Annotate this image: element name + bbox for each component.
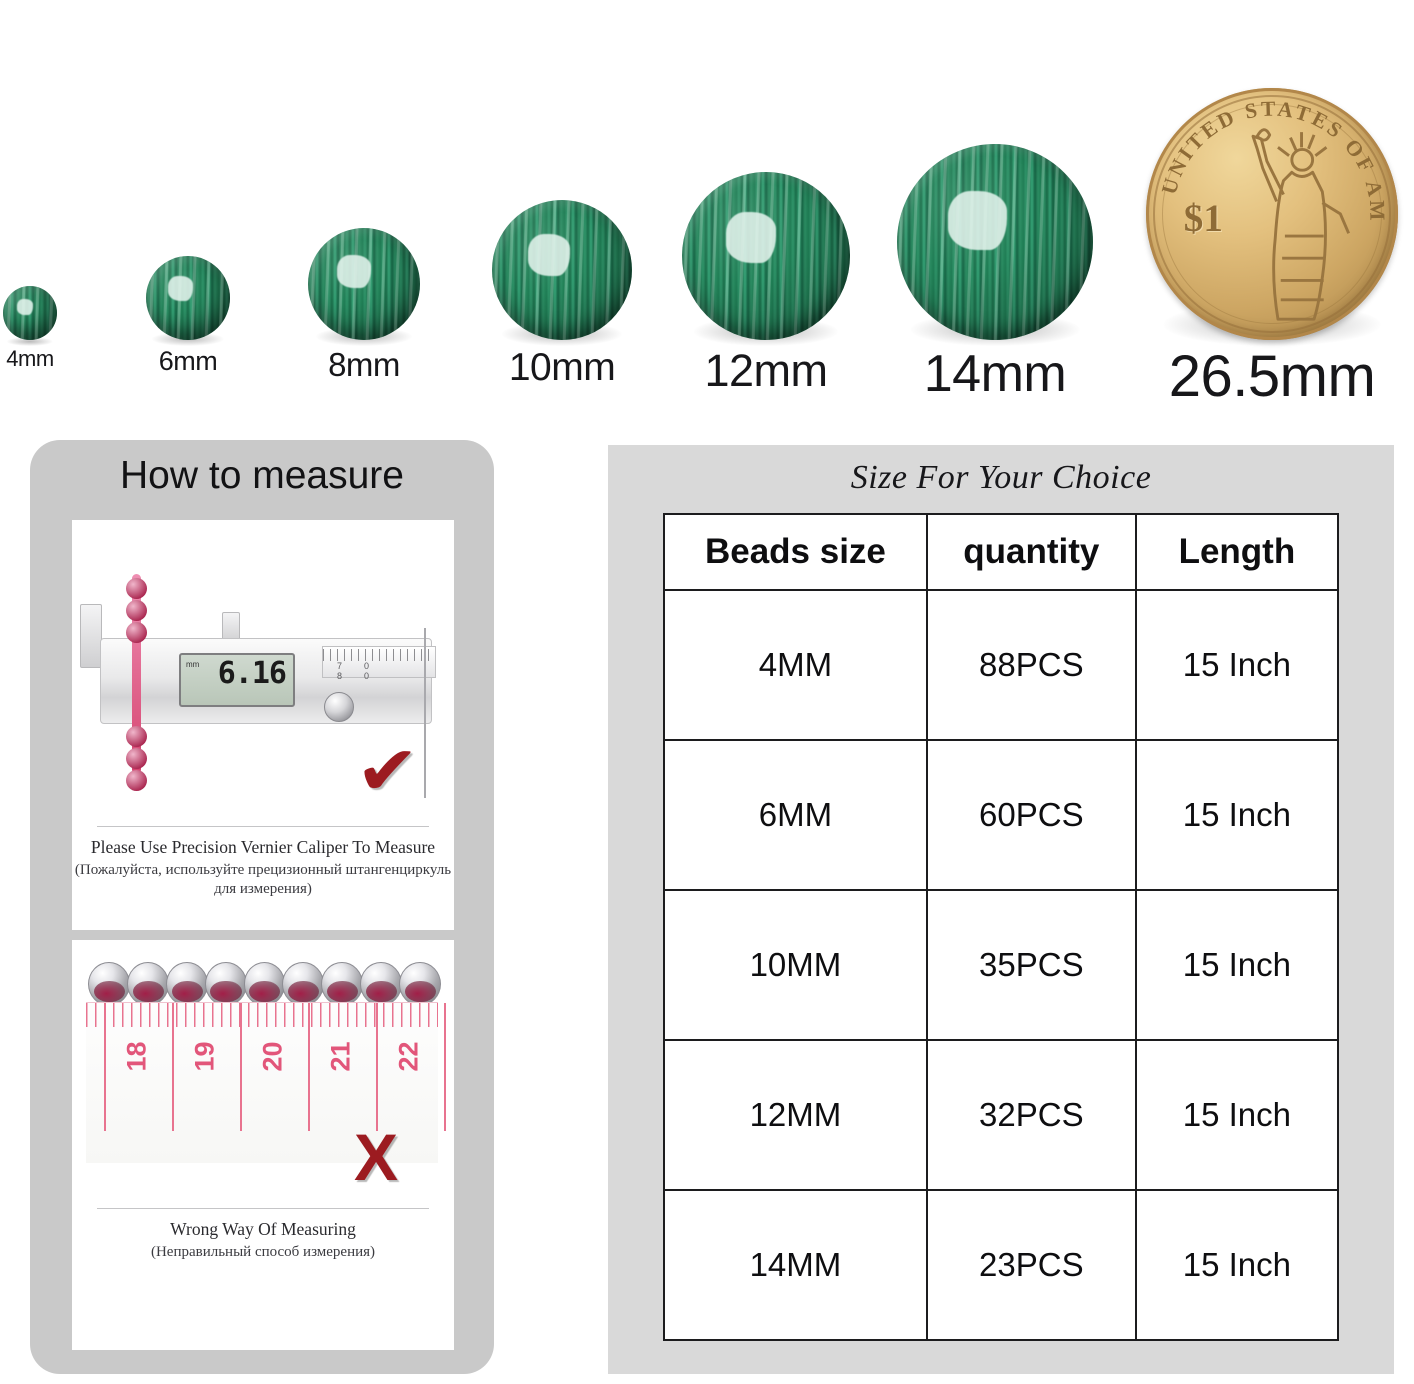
table-header-cell: Length bbox=[1136, 514, 1338, 590]
wrong-method-caption: Wrong Way Of Measuring (Неправильный спо… bbox=[72, 1208, 454, 1262]
bead-highlight bbox=[948, 191, 1007, 250]
steel-bead bbox=[399, 962, 441, 1006]
caption-divider bbox=[97, 826, 429, 827]
table-row: 12MM32PCS15 Inch bbox=[664, 1040, 1338, 1190]
steel-bead bbox=[282, 962, 324, 1006]
table-cell: 10MM bbox=[664, 890, 927, 1040]
measured-bead bbox=[324, 692, 354, 722]
statue-of-liberty-icon bbox=[1234, 103, 1380, 325]
bead-sphere bbox=[308, 228, 420, 340]
table-cell: 88PCS bbox=[927, 590, 1136, 740]
strand-bead bbox=[126, 748, 147, 769]
malachite-bead bbox=[897, 144, 1093, 340]
table-row: 6MM60PCS15 Inch bbox=[664, 740, 1338, 890]
check-icon: ✔ bbox=[356, 738, 420, 806]
bead-highlight bbox=[168, 276, 193, 301]
wrong-method-card: 1819202122 X Wrong Way Of Measuring (Неп… bbox=[72, 940, 454, 1350]
table-cell: 15 Inch bbox=[1136, 590, 1338, 740]
size-label: 10mm bbox=[509, 348, 615, 387]
tape-number: 18 bbox=[122, 1041, 153, 1071]
strand-bead bbox=[126, 726, 147, 747]
how-to-measure-panel: How to measure mm 6.16 bbox=[30, 440, 494, 1374]
caliper-scale-rail: 70 80 bbox=[322, 646, 436, 678]
tape-major-mark bbox=[444, 1003, 446, 1131]
malachite-bead bbox=[3, 286, 57, 340]
size-label: 6mm bbox=[159, 348, 218, 375]
tape-major-mark bbox=[104, 1003, 106, 1131]
measuring-tape-photo: 1819202122 X bbox=[72, 940, 454, 1200]
table-cell: 15 Inch bbox=[1136, 1190, 1338, 1340]
steel-bead bbox=[166, 962, 208, 1006]
table-cell: 32PCS bbox=[927, 1040, 1136, 1190]
table-cell: 15 Inch bbox=[1136, 890, 1338, 1040]
bead-highlight bbox=[337, 255, 371, 289]
caliper-unit-label: mm bbox=[186, 660, 199, 669]
x-icon: X bbox=[354, 1124, 398, 1190]
table-cell: 15 Inch bbox=[1136, 740, 1338, 890]
table-header-row: Beads sizequantityLength bbox=[664, 514, 1338, 590]
steel-bead bbox=[127, 962, 169, 1006]
caption-divider bbox=[97, 1208, 429, 1209]
size-label: 14mm bbox=[924, 348, 1066, 400]
coin-denomination-label: $1 bbox=[1184, 196, 1223, 241]
how-to-measure-title: How to measure bbox=[30, 454, 494, 498]
size-label: 12mm bbox=[704, 348, 827, 393]
bead-sphere bbox=[492, 200, 632, 340]
wrong-caption-ru: (Неправильный способ измерения) bbox=[72, 1243, 454, 1263]
correct-caption-en: Please Use Precision Vernier Caliper To … bbox=[72, 837, 454, 859]
correct-caption-ru: (Пожалуйста, используйте прецизионный шт… bbox=[72, 861, 454, 900]
wrong-caption-en: Wrong Way Of Measuring bbox=[72, 1219, 454, 1241]
table-cell: 60PCS bbox=[927, 740, 1136, 890]
tape-major-mark bbox=[308, 1003, 310, 1131]
caliper-scale-ticks bbox=[323, 649, 435, 661]
steel-bead bbox=[321, 962, 363, 1006]
table-row: 4MM88PCS15 Inch bbox=[664, 590, 1338, 740]
tape-major-mark bbox=[376, 1003, 378, 1131]
bead-highlight bbox=[17, 299, 33, 315]
table-cell: 23PCS bbox=[927, 1190, 1136, 1340]
table-row: 10MM35PCS15 Inch bbox=[664, 890, 1338, 1040]
strand-bead bbox=[126, 770, 147, 791]
table-cell: 6MM bbox=[664, 740, 927, 890]
caliper-scale-numbers: 70 80 bbox=[337, 661, 435, 681]
caliper-jaw bbox=[80, 604, 102, 668]
strand-bead bbox=[126, 600, 147, 621]
coin-face: UNITED STATES OF AMERICA$1 bbox=[1146, 88, 1398, 340]
steel-bead bbox=[88, 962, 130, 1006]
correct-method-caption: Please Use Precision Vernier Caliper To … bbox=[72, 826, 454, 900]
bead-sphere bbox=[897, 144, 1093, 340]
correct-method-card: mm 6.16 70 80 ✔ Please Use Precision Ver… bbox=[72, 520, 454, 930]
tape-number: 20 bbox=[258, 1041, 289, 1071]
table-header-cell: quantity bbox=[927, 514, 1136, 590]
steel-bead bbox=[205, 962, 247, 1006]
tape-number: 22 bbox=[394, 1041, 425, 1071]
table-header-cell: Beads size bbox=[664, 514, 927, 590]
table-cell: 35PCS bbox=[927, 890, 1136, 1040]
steel-bead bbox=[244, 962, 286, 1006]
bead-sphere bbox=[3, 286, 57, 340]
bead-sphere bbox=[146, 256, 230, 340]
size-table-panel: Size For Your Choice Beads sizequantityL… bbox=[608, 445, 1394, 1374]
bead-highlight bbox=[726, 212, 776, 262]
table-body: 4MM88PCS15 Inch6MM60PCS15 Inch10MM35PCS1… bbox=[664, 590, 1338, 1340]
tape-major-mark bbox=[172, 1003, 174, 1131]
malachite-bead bbox=[146, 256, 230, 340]
malachite-bead bbox=[308, 228, 420, 340]
table-cell: 15 Inch bbox=[1136, 1040, 1338, 1190]
caliper-lcd-screen: mm 6.16 bbox=[179, 653, 295, 707]
malachite-bead bbox=[492, 200, 632, 340]
tape-number: 19 bbox=[190, 1041, 221, 1071]
size-table: Beads sizequantityLength 4MM88PCS15 Inch… bbox=[663, 513, 1339, 1341]
steel-bead bbox=[360, 962, 402, 1006]
strand-bead bbox=[126, 622, 147, 643]
malachite-bead bbox=[682, 172, 850, 340]
tape-major-mark bbox=[240, 1003, 242, 1131]
table-cell: 4MM bbox=[664, 590, 927, 740]
ruler-edge bbox=[424, 628, 426, 798]
size-label: 26.5mm bbox=[1169, 348, 1376, 406]
tape-number: 21 bbox=[326, 1041, 357, 1071]
size-label: 4mm bbox=[6, 348, 53, 370]
size-table-title: Size For Your Choice bbox=[608, 459, 1394, 497]
us-dollar-coin: UNITED STATES OF AMERICA$1 bbox=[1146, 88, 1398, 340]
strand-bead bbox=[126, 578, 147, 599]
bead-size-comparison-strip: 4mm6mm8mm10mm12mm14mmUNITED STATES OF AM… bbox=[0, 0, 1414, 400]
bead-highlight bbox=[528, 234, 570, 276]
table-cell: 12MM bbox=[664, 1040, 927, 1190]
table-row: 14MM23PCS15 Inch bbox=[664, 1190, 1338, 1340]
bead-sphere bbox=[682, 172, 850, 340]
size-label: 8mm bbox=[328, 348, 400, 381]
table-cell: 14MM bbox=[664, 1190, 927, 1340]
info-panels-row: How to measure mm 6.16 bbox=[0, 400, 1414, 1384]
caliper-reading-value: 6.16 bbox=[218, 659, 286, 689]
caliper-photo: mm 6.16 70 80 ✔ bbox=[72, 520, 454, 820]
